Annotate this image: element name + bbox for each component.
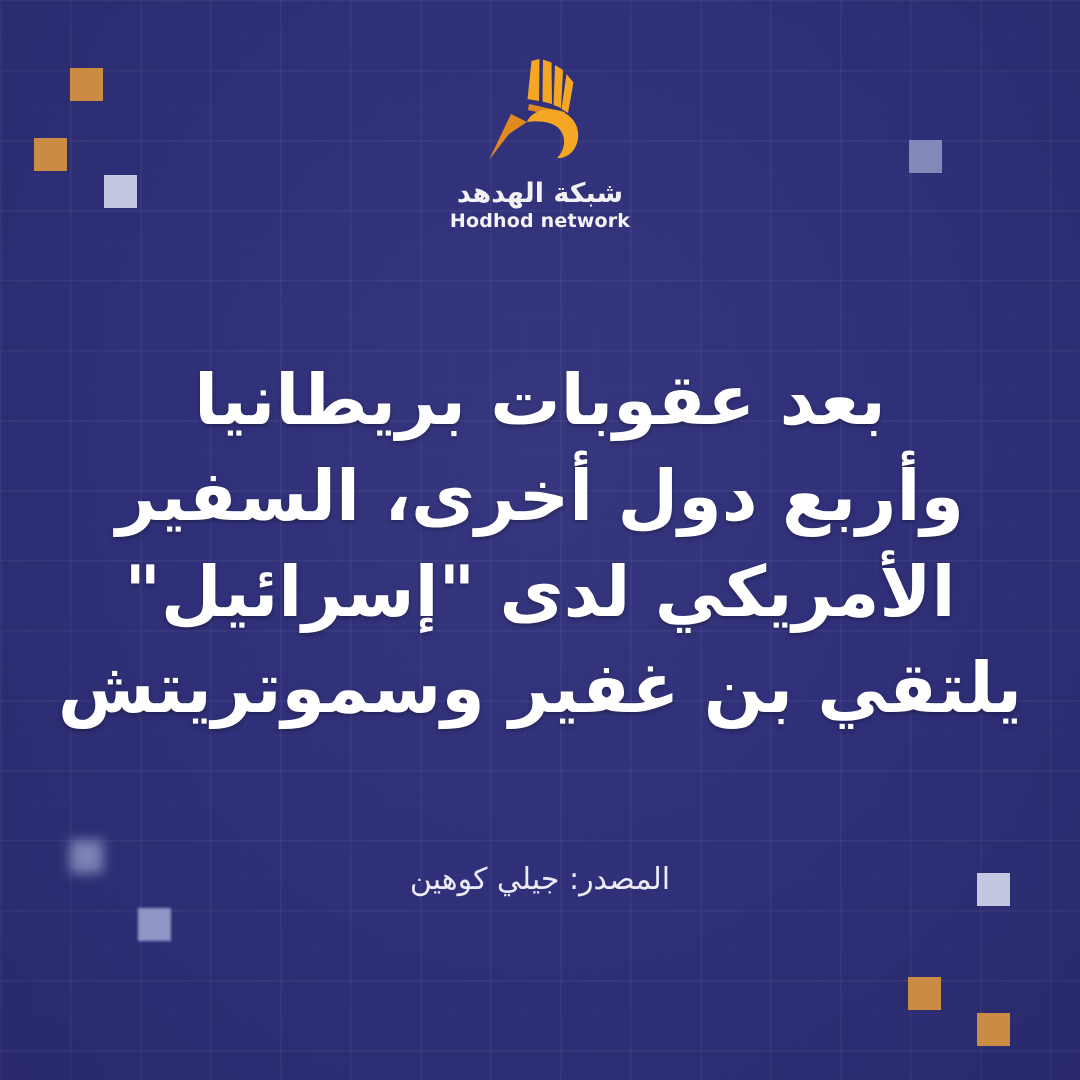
logo-name-arabic: شبكة الهدهد	[457, 179, 623, 209]
deco-square-bluegray-bottom-left	[138, 908, 171, 941]
headline-line-3: الأمريكي لدى "إسرائيل"	[40, 544, 1040, 640]
news-card: شبكة الهدهد Hodhod network بعد عقوبات بر…	[0, 0, 1080, 1080]
headline-line-2: وأربع دول أخرى، السفير	[40, 448, 1040, 544]
source-credit: المصدر: جيلي كوهين	[0, 862, 1080, 897]
headline-line-1: بعد عقوبات بريطانيا	[40, 352, 1040, 448]
headline: بعد عقوبات بريطانيا وأربع دول أخرى، السف…	[40, 352, 1040, 736]
headline-line-4: يلتقي بن غفير وسموتريتش	[40, 640, 1040, 736]
brand-logo: شبكة الهدهد Hodhod network	[0, 48, 1080, 233]
deco-square-orange-bottom-right-1	[908, 977, 941, 1010]
hoopoe-bird-icon	[465, 48, 615, 173]
logo-name-english: Hodhod network	[450, 211, 630, 233]
deco-square-orange-bottom-right-2	[977, 1013, 1010, 1046]
